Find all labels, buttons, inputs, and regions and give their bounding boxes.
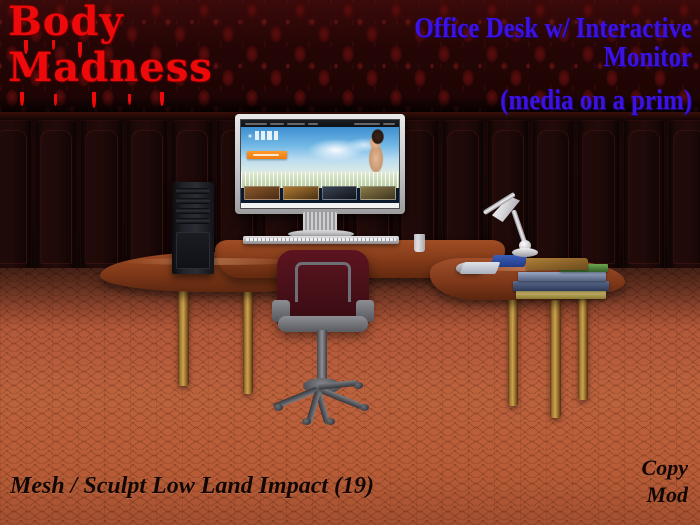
logo-drip: [128, 94, 131, 105]
brand-logo-line1: Body: [8, 2, 238, 42]
brand-logo: Body Madness: [8, 2, 238, 88]
product-title-line1: Office Desk w/ Interactive Monitor: [414, 12, 692, 73]
wall-panel: [35, 120, 77, 270]
thumbnail-row: [244, 186, 396, 200]
book-stack-item: [516, 290, 606, 299]
logo-drip: [20, 92, 24, 106]
logo-drip: [78, 42, 82, 58]
book-stack-item: [526, 258, 588, 270]
wall-panel: [126, 120, 168, 270]
keyboard: [243, 236, 399, 244]
logo-drip: [24, 40, 28, 54]
chair-frame: [295, 262, 351, 302]
chair-caster-wheel: [302, 418, 311, 425]
wall-panel: [668, 120, 700, 270]
thumbnail-item[interactable]: [322, 186, 358, 200]
product-title: Office Desk w/ Interactive Monitor (medi…: [331, 14, 692, 115]
logo-drip: [92, 92, 96, 108]
desk-leg: [178, 288, 189, 386]
chair-caster-wheel: [326, 418, 335, 425]
hero-cta-button[interactable]: [247, 151, 287, 159]
logo-drip: [54, 94, 57, 106]
permissions-block: Copy Mod: [642, 455, 688, 509]
papers: [460, 262, 501, 274]
desk-leg: [243, 282, 253, 394]
product-title-line2: (media on a prim): [331, 86, 692, 115]
desk-leg: [578, 296, 588, 400]
book-stack-item: [518, 272, 606, 281]
brand-logo-line2: Madness: [8, 48, 238, 88]
wall-panel: [80, 120, 122, 270]
web-page-topbar: [241, 120, 399, 127]
thumbnail-item[interactable]: [283, 186, 319, 200]
cup: [414, 234, 425, 252]
chair-caster-wheel: [360, 404, 369, 411]
chair-caster-wheel: [354, 382, 363, 389]
wall-panel: [577, 120, 619, 270]
tower-vent: [176, 188, 210, 194]
tower-vent: [176, 218, 210, 224]
tower-drive-bay: [176, 232, 210, 269]
product-advertisement-image: Body Madness Office Desk w/ Interactive …: [0, 0, 700, 525]
monitor-screen[interactable]: [240, 119, 400, 209]
permission-mod: Mod: [642, 482, 688, 509]
thumbnail-item[interactable]: [360, 186, 396, 200]
tower-vent: [176, 198, 210, 204]
lamp-base: [512, 248, 538, 257]
book-stack-item: [513, 281, 609, 291]
permission-copy: Copy: [642, 455, 688, 482]
monitor[interactable]: [235, 114, 405, 214]
chair-gas-cylinder: [317, 330, 327, 382]
web-page-hero: [241, 127, 399, 177]
wall-panel: [0, 120, 32, 270]
product-tagline: Mesh / Sculpt Low Land Impact (19): [10, 473, 374, 500]
desk-leg: [508, 296, 518, 406]
web-page-footer: [241, 203, 399, 208]
desk-leg: [550, 300, 561, 418]
site-logo-icon: [246, 131, 284, 140]
wall-panel: [532, 120, 574, 270]
hero-model-figure: [359, 129, 393, 177]
monitor-neck: [303, 212, 337, 232]
logo-drip: [52, 40, 55, 50]
thumbnail-item[interactable]: [244, 186, 280, 200]
logo-drip: [160, 92, 164, 106]
chair-caster-wheel: [274, 404, 283, 411]
wall-panel: [623, 120, 665, 270]
tower-vent: [176, 208, 210, 214]
pc-tower: [172, 182, 214, 274]
